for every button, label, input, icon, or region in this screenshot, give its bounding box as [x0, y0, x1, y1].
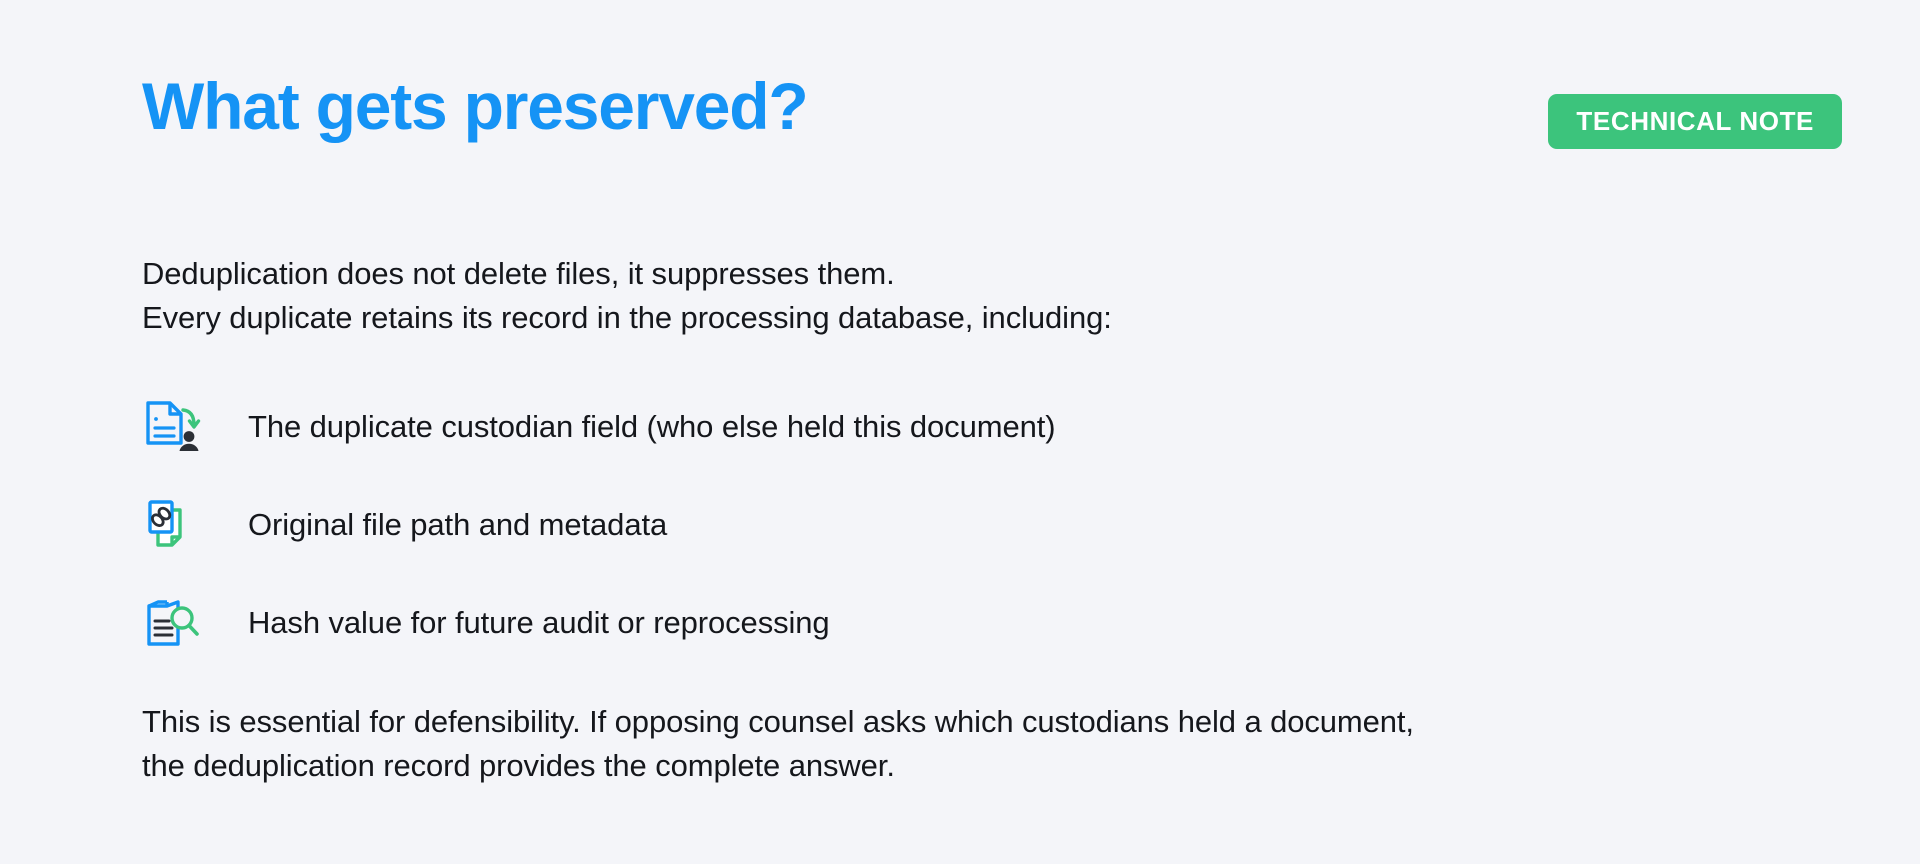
intro-paragraph: Deduplication does not delete files, it … — [142, 252, 1702, 340]
closing-paragraph: This is essential for defensibility. If … — [142, 700, 1842, 788]
closing-line-2: the deduplication record provides the co… — [142, 744, 1842, 788]
list-item-label: Hash value for future audit or reprocess… — [248, 604, 830, 641]
list-item-label: The duplicate custodian field (who else … — [248, 408, 1055, 445]
slide-root: What gets preserved? TECHNICAL NOTE Dedu… — [0, 0, 1920, 864]
intro-line-1: Deduplication does not delete files, it … — [142, 252, 1702, 296]
slide-header: What gets preserved? TECHNICAL NOTE — [142, 72, 1842, 149]
page-title: What gets preserved? — [142, 72, 808, 141]
list-item: Original file path and metadata — [142, 476, 1762, 574]
bullet-list: The duplicate custodian field (who else … — [142, 378, 1762, 672]
closing-line-1: This is essential for defensibility. If … — [142, 700, 1842, 744]
list-item: The duplicate custodian field (who else … — [142, 378, 1762, 476]
list-item: Hash value for future audit or reprocess… — [142, 574, 1762, 672]
document-search-icon — [142, 593, 208, 653]
status-badge: TECHNICAL NOTE — [1548, 94, 1842, 149]
linked-documents-icon — [142, 495, 208, 555]
document-custodian-transfer-icon — [142, 397, 208, 457]
list-item-label: Original file path and metadata — [248, 506, 667, 543]
intro-line-2: Every duplicate retains its record in th… — [142, 296, 1702, 340]
